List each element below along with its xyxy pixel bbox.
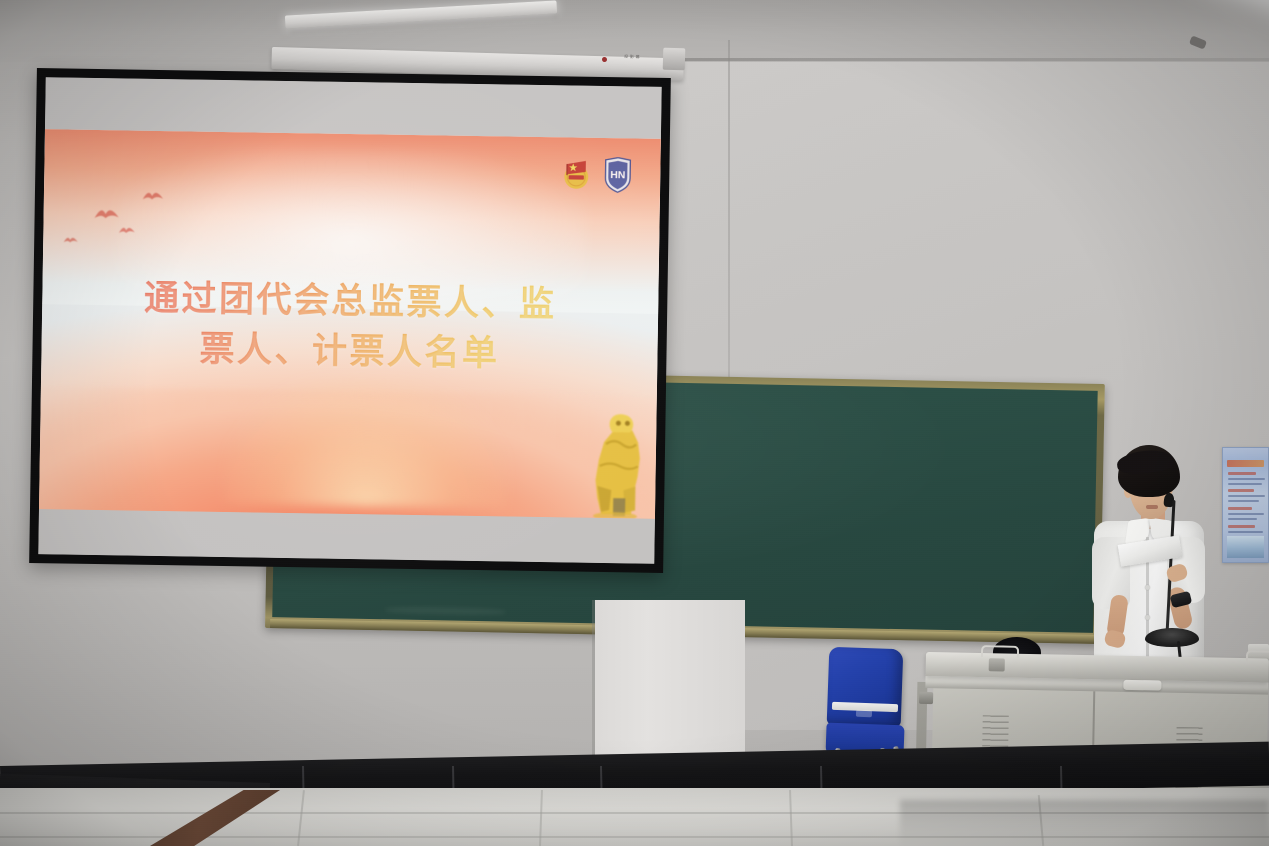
poster-title-bar	[1227, 460, 1264, 467]
screen-case-label: 投 影 幕	[605, 53, 659, 66]
slide-title-line-1: 通过团代会总监票人、监	[144, 279, 557, 325]
poster-heading	[1228, 507, 1252, 510]
bird-icon	[142, 190, 164, 204]
flying-birds-decoration	[61, 179, 235, 273]
desk-floor-shadow	[900, 800, 1269, 846]
poster-heading	[1228, 525, 1255, 528]
desk-slide-knob[interactable]	[1123, 680, 1161, 691]
poster-heading	[1228, 472, 1256, 475]
svg-text:HN: HN	[610, 170, 625, 181]
communist-youth-league-emblem-icon	[559, 156, 594, 191]
slide-title: 通过团代会总监票人、监票人、计票人名单	[66, 274, 634, 382]
poster-text-line	[1228, 478, 1265, 480]
guardian-lion-statue-icon	[575, 394, 651, 519]
pull-down-projection-screen[interactable]: HN 通过团代会总监票人、监票人、计票人名单	[29, 68, 671, 573]
slide-title-line-2: 票人、计票人名单	[199, 330, 500, 375]
poster-text-line	[1228, 531, 1263, 533]
screen-letterbox-top	[45, 77, 662, 139]
poster-text-line	[1228, 513, 1264, 515]
bird-icon	[93, 207, 119, 223]
chair-brand-mark	[856, 710, 872, 718]
screen-roller-end-cap	[663, 48, 686, 71]
ceiling	[0, 0, 1269, 62]
poster-photo	[1227, 536, 1264, 558]
desk-right-handle[interactable]	[1246, 650, 1269, 663]
slide-logos: HN	[559, 156, 633, 193]
classroom-scene: 投 影 幕	[0, 0, 1269, 846]
shirt-button	[1145, 585, 1150, 590]
speaker-at-lectern	[1075, 445, 1215, 675]
poster-text-line	[1228, 495, 1265, 497]
bird-icon	[63, 235, 78, 245]
shirt-button	[1145, 615, 1150, 620]
ceiling-wall-joint	[660, 58, 1269, 61]
bird-icon	[119, 225, 136, 236]
poster-text-line	[1228, 500, 1259, 502]
hn-school-shield-icon: HN	[603, 157, 633, 193]
screen-letterbox-bottom	[38, 509, 655, 564]
slide-glow	[224, 375, 509, 509]
screen-surface: HN 通过团代会总监票人、监票人、计票人名单	[38, 77, 661, 564]
mouth	[1146, 505, 1158, 509]
projected-slide: HN 通过团代会总监票人、监票人、计票人名单	[39, 129, 661, 519]
desk-lid-handle[interactable]	[981, 645, 1019, 658]
poster-heading	[1228, 489, 1254, 492]
desk-hinge-icon	[919, 692, 933, 704]
wall-notice-poster[interactable]	[1222, 447, 1269, 563]
poster-text-line	[1228, 518, 1257, 520]
poster-text-line	[1228, 483, 1262, 485]
microphone-base[interactable]	[1145, 628, 1199, 647]
desk-latch-icon[interactable]	[989, 658, 1005, 671]
